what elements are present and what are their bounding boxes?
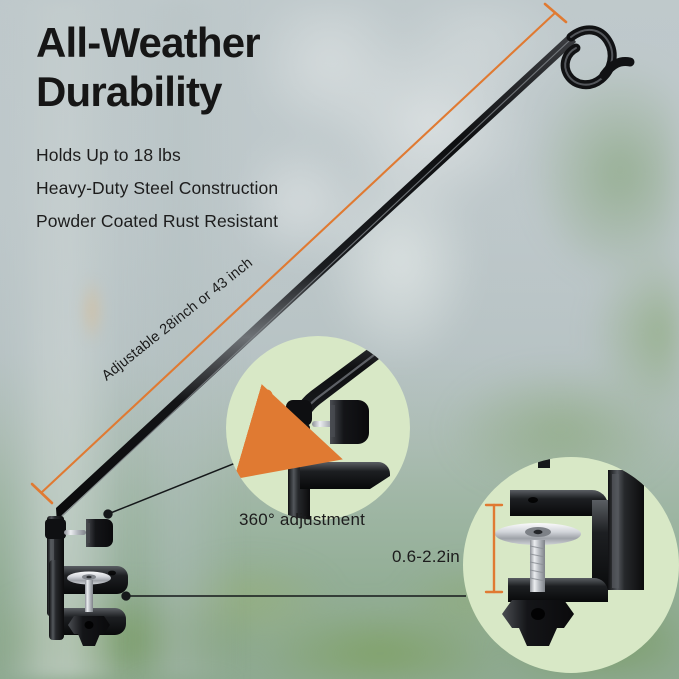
callout-clamp-range (463, 438, 679, 673)
clamp-assembly (45, 516, 128, 646)
feature-item: Holds Up to 18 lbs (36, 139, 278, 172)
page-title: All-Weather Durability (36, 18, 260, 116)
callout-rotation (226, 328, 410, 534)
feature-item: Powder Coated Rust Resistant (36, 205, 278, 238)
feature-list: Holds Up to 18 lbs Heavy-Duty Steel Cons… (36, 139, 278, 238)
callout-label-rotation: 360° adjustment (239, 510, 365, 530)
feature-item: Heavy-Duty Steel Construction (36, 172, 278, 205)
product-image-canvas: All-Weather Durability Holds Up to 18 lb… (0, 0, 679, 679)
callout-label-clamp-range: 0.6-2.2in (392, 547, 460, 567)
